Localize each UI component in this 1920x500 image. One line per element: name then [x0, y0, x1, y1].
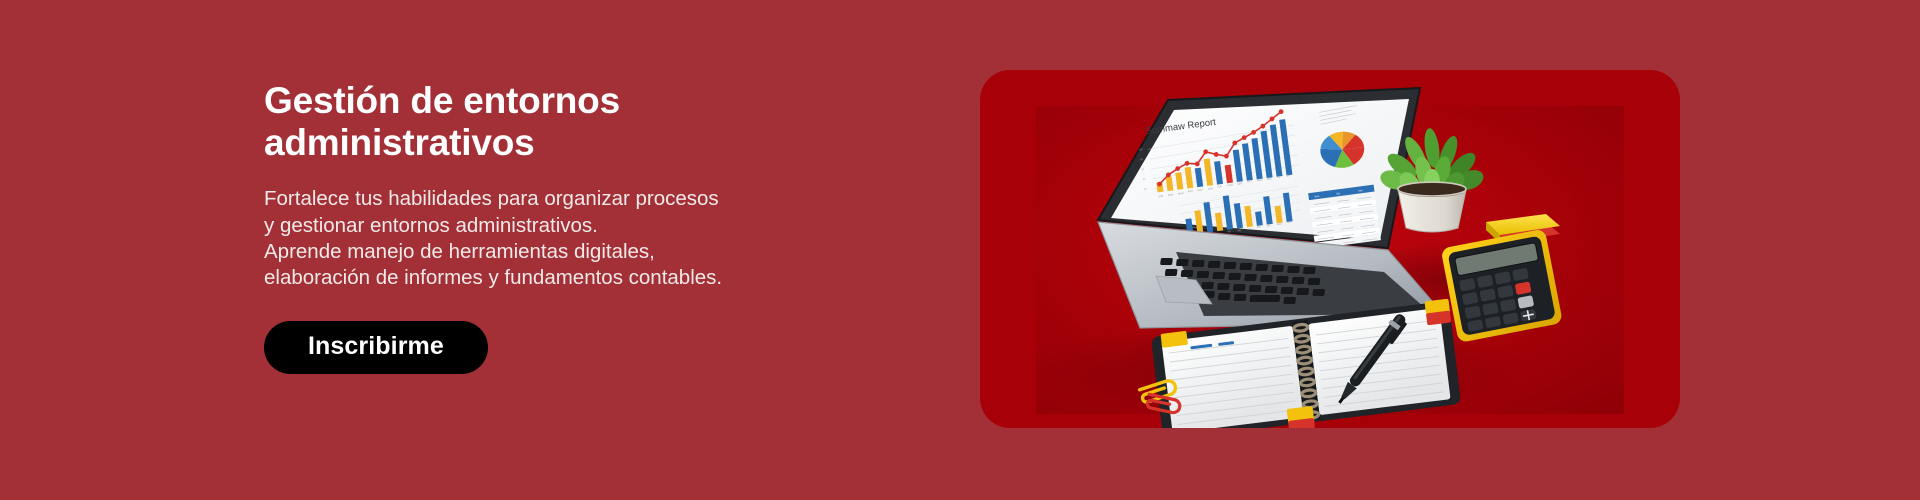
- svg-text:NOV: NOV: [1257, 178, 1263, 183]
- desk-scene-svg: Summaw Report: [980, 70, 1680, 428]
- svg-text:Item: Item: [1314, 195, 1319, 199]
- svg-text:JUN: JUN: [1207, 186, 1213, 191]
- svg-text:AUG: AUG: [1227, 183, 1233, 188]
- enroll-button[interactable]: Inscribirme: [264, 321, 488, 374]
- data-table: ItemQtyAmt: [1308, 185, 1381, 249]
- banner-description: Fortalece tus habilidades para organizar…: [264, 186, 884, 291]
- svg-text:JAN: JAN: [1158, 194, 1164, 199]
- svg-text:FEB: FEB: [1168, 192, 1174, 197]
- banner-copy-block: Gestión de entornos administrativos Fort…: [264, 80, 884, 374]
- svg-text:MAY: MAY: [1197, 187, 1203, 192]
- laptop: Summaw Report: [1098, 88, 1450, 328]
- artwork-panel: Summaw Report: [980, 70, 1680, 428]
- desk-scene-illustration: Summaw Report: [980, 70, 1680, 428]
- svg-text:SEP: SEP: [1237, 181, 1243, 186]
- svg-text:APR: APR: [1187, 189, 1193, 194]
- svg-text:Amt: Amt: [1358, 189, 1363, 193]
- svg-text:MAR: MAR: [1178, 191, 1184, 196]
- page-title: Gestión de entornos administrativos: [264, 80, 884, 164]
- calculator: [1441, 229, 1563, 343]
- svg-text:DEC: DEC: [1267, 176, 1273, 181]
- pot-soil: [1398, 183, 1466, 197]
- promo-banner: Gestión de entornos administrativos Fort…: [0, 0, 1920, 500]
- svg-text:OCT: OCT: [1247, 179, 1253, 184]
